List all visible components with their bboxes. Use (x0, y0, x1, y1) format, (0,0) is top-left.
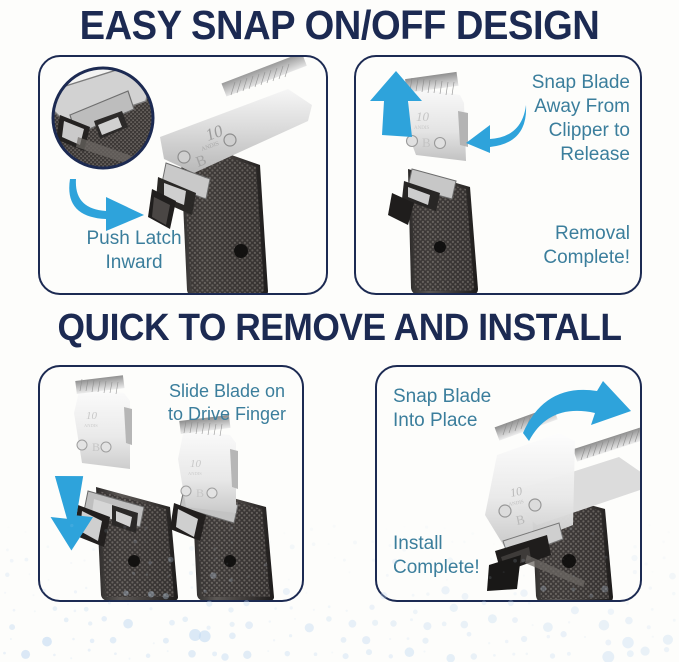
svg-text:10: 10 (86, 410, 98, 422)
svg-text:B: B (196, 486, 204, 500)
step-panel-2: 10 ANDIS B Snap Blade Away From Clipper … (354, 55, 642, 295)
svg-text:ANDIS: ANDIS (188, 471, 202, 476)
clipper-blade-sliding-on: 10 ANDIS B (158, 419, 300, 601)
panel-4-caption-primary: Snap Blade Into Place (393, 385, 533, 433)
panel-3-caption: Slide Blade on to Drive Finger (152, 380, 302, 426)
svg-text:ANDIS: ANDIS (84, 423, 98, 428)
svg-text:10: 10 (190, 458, 202, 470)
panel-2-caption-primary: Snap Blade Away From Clipper to Release (462, 71, 630, 167)
panel-2-caption-status: Removal Complete! (462, 222, 630, 270)
product-infographic: EASY SNAP ON/OFF DESIGN QUICK TO REMOVE … (0, 0, 679, 662)
step-panel-4: 10 ANDIS B Snap Blade Into Place Install… (375, 365, 642, 602)
step-panel-3: 10 ANDIS B (38, 365, 304, 602)
page-title-middle: QUICK TO REMOVE AND INSTALL (24, 307, 655, 350)
panel-4-caption-status: Install Complete! (393, 532, 543, 580)
circular-zoom-inset-latch (50, 65, 156, 171)
curved-arrow-right-down-icon (68, 175, 158, 233)
arrow-down-left-icon (48, 471, 110, 551)
step-panel-1: 10 ANDIS B (38, 55, 328, 295)
arrow-up-left-icon (368, 69, 426, 139)
panel-1-caption: Push Latch Inward (54, 227, 214, 275)
curved-arrow-down-right-icon (519, 381, 637, 453)
page-title-top: EASY SNAP ON/OFF DESIGN (24, 2, 655, 49)
